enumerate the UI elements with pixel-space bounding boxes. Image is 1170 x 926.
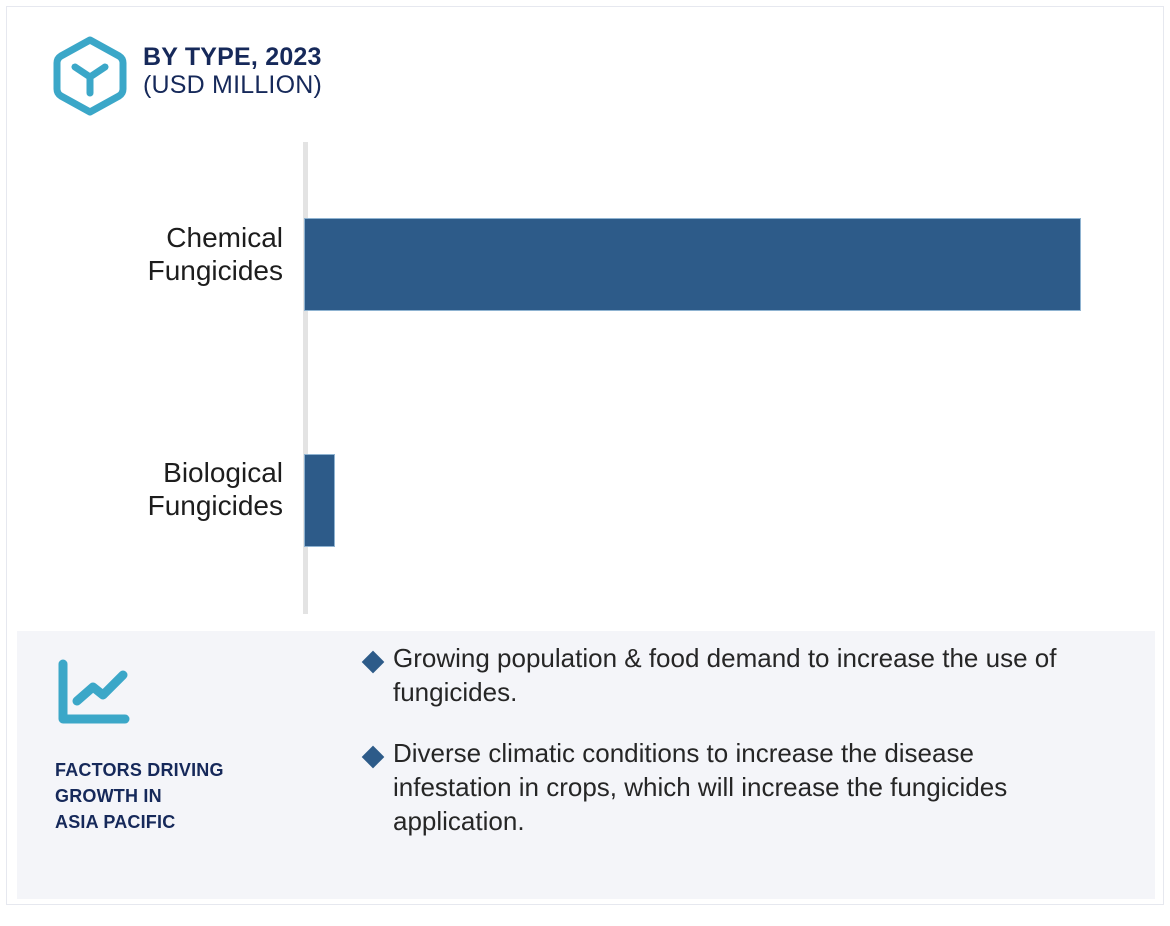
bar-category-label-biological-fungicides: Biological Fungicides (23, 456, 283, 522)
panel-left-column: FACTORS DRIVING GROWTH IN ASIA PACIFIC (55, 659, 345, 835)
panel-heading: FACTORS DRIVING GROWTH IN ASIA PACIFIC (55, 757, 345, 835)
diamond-bullet-icon (362, 651, 385, 674)
diamond-bullet-icon (362, 745, 385, 768)
bar-chemical-fungicides (304, 218, 1081, 311)
list-item: Diverse climatic conditions to increase … (365, 736, 1135, 839)
line-chart-icon (55, 659, 133, 727)
bullet-list: Growing population & food demand to incr… (365, 641, 1135, 865)
bar-chart: Chemical Fungicides Biological Fungicide… (7, 7, 1164, 631)
bar-category-label-chemical-fungicides: Chemical Fungicides (23, 221, 283, 287)
factors-panel: FACTORS DRIVING GROWTH IN ASIA PACIFIC G… (17, 631, 1155, 899)
bar-biological-fungicides (304, 454, 335, 547)
infographic-card: BY TYPE, 2023 (USD MILLION) Chemical Fun… (6, 6, 1164, 905)
list-item: Growing population & food demand to incr… (365, 641, 1135, 710)
bullet-text: Diverse climatic conditions to increase … (393, 736, 1073, 839)
bullet-text: Growing population & food demand to incr… (393, 641, 1135, 710)
